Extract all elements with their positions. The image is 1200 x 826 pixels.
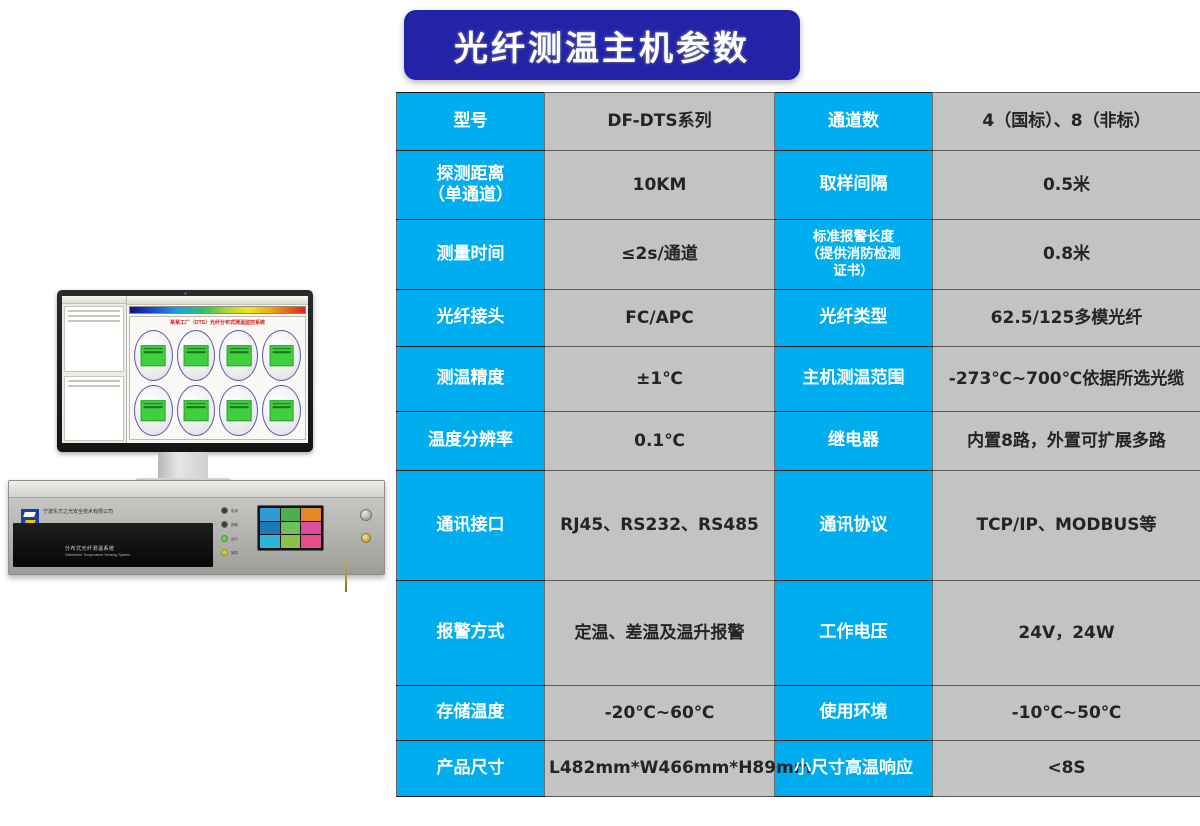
spec-value-cell: ±1℃ bbox=[545, 347, 775, 412]
connector-icon bbox=[360, 509, 372, 521]
spec-value-cell: RJ45、RS232、RS485 bbox=[545, 471, 775, 581]
spec-value-cell: 10KM bbox=[545, 151, 775, 220]
system-name-cn: 分布式光纤测温系统 bbox=[65, 545, 115, 552]
spec-value-cell: 0.5米 bbox=[933, 151, 1200, 220]
spec-key-cell: 产品尺寸 bbox=[397, 741, 545, 797]
spec-row: 通讯接口RJ45、RS232、RS485通讯协议TCP/IP、MODBUS等 bbox=[397, 471, 1200, 581]
software-sidebar bbox=[62, 296, 127, 443]
spec-value-cell: 定温、差温及温升报警 bbox=[545, 581, 775, 686]
led-label: 故障 bbox=[231, 550, 238, 555]
run-led-icon bbox=[221, 535, 228, 542]
software-screen-title: 某某工厂（DTS）光纤分布式测温监控系统 bbox=[132, 318, 303, 328]
spec-value-cell: L482mm*W466mm*H89mm bbox=[545, 741, 775, 797]
spec-key-cell: 型号 bbox=[397, 93, 545, 151]
spec-key-cell: 小尺寸高温响应 bbox=[775, 741, 933, 797]
product-photo: 某某工厂（DTS）光纤分布式测温监控系统 宁波东方之光安全技术有限公司 bbox=[0, 262, 392, 592]
spec-value-cell: 24V，24W bbox=[933, 581, 1200, 686]
system-name-en: Distributed Temperature Sensing System bbox=[65, 553, 130, 557]
spec-value-cell: -10℃~50℃ bbox=[933, 686, 1200, 741]
software-device-tree bbox=[64, 306, 124, 372]
alarm-led-icon bbox=[221, 521, 228, 528]
spec-table: 型号DF-DTS系列通道数4（国标）、8（非标）探测距离（单通道）10KM取样间… bbox=[396, 92, 1200, 797]
spec-value-cell: FC/APC bbox=[545, 290, 775, 347]
spec-value-cell: TCP/IP、MODBUS等 bbox=[933, 471, 1200, 581]
spec-row: 产品尺寸L482mm*W466mm*H89mm小尺寸高温响应<8S bbox=[397, 741, 1200, 797]
dts-host-unit: 宁波东方之光安全技术有限公司 Light of The East Securit… bbox=[8, 480, 385, 575]
spec-row: 光纤接头FC/APC光纤类型62.5/125多模光纤 bbox=[397, 290, 1200, 347]
spec-row: 测温精度±1℃主机测温范围-273℃~700℃依据所选光缆 bbox=[397, 347, 1200, 412]
monitor-screen: 某某工厂（DTS）光纤分布式测温监控系统 bbox=[62, 296, 308, 443]
tank-widget bbox=[134, 330, 173, 381]
software-menubar bbox=[62, 296, 126, 304]
spec-key-cell: 继电器 bbox=[775, 412, 933, 471]
spec-value-cell: 0.1℃ bbox=[545, 412, 775, 471]
spec-row: 存储温度-20℃~60℃使用环境-10℃~50℃ bbox=[397, 686, 1200, 741]
spec-key-cell: 通道数 bbox=[775, 93, 933, 151]
software-tank-canvas: 某某工厂（DTS）光纤分布式测温监控系统 bbox=[129, 316, 306, 440]
spec-key-cell: 使用环境 bbox=[775, 686, 933, 741]
tank-widget bbox=[262, 385, 301, 436]
software-main-panel: 某某工厂（DTS）光纤分布式测温监控系统 bbox=[127, 296, 308, 443]
spec-value-cell: <8S bbox=[933, 741, 1200, 797]
software-list-panel bbox=[64, 376, 124, 442]
spec-key-cell: 测量时间 bbox=[397, 220, 545, 290]
rack-front-panel: 分布式光纤测温系统 Distributed Temperature Sensin… bbox=[13, 523, 213, 567]
spec-key-cell: 工作电压 bbox=[775, 581, 933, 686]
spec-key-cell: 存储温度 bbox=[397, 686, 545, 741]
tank-widget bbox=[262, 330, 301, 381]
software-toolbar bbox=[127, 296, 308, 305]
spec-value-cell: -20℃~60℃ bbox=[545, 686, 775, 741]
led-label: 电源 bbox=[231, 508, 238, 513]
page-title-banner: 光纤测温主机参数 bbox=[404, 10, 800, 80]
rack-touchscreen[interactable] bbox=[257, 505, 324, 551]
tank-widget bbox=[177, 385, 216, 436]
spec-value-cell: ≤2s/通道 bbox=[545, 220, 775, 290]
spec-key-cell: 光纤类型 bbox=[775, 290, 933, 347]
spec-row: 温度分辨率0.1℃继电器内置8路，外置可扩展多路 bbox=[397, 412, 1200, 471]
temperature-colorbar bbox=[129, 306, 306, 314]
spec-key-cell: 温度分辨率 bbox=[397, 412, 545, 471]
spec-key-cell: 光纤接头 bbox=[397, 290, 545, 347]
spec-value-cell: 62.5/125多模光纤 bbox=[933, 290, 1200, 347]
spec-value-cell: -273℃~700℃依据所选光缆 bbox=[933, 347, 1200, 412]
company-name-cn: 宁波东方之光安全技术有限公司 bbox=[43, 509, 113, 515]
fault-led-icon bbox=[221, 549, 228, 556]
led-label: 报警 bbox=[231, 522, 238, 527]
spec-value-cell: DF-DTS系列 bbox=[545, 93, 775, 151]
spec-key-cell: 通讯协议 bbox=[775, 471, 933, 581]
status-led-group: 电源 报警 运行 故障 bbox=[221, 507, 238, 556]
spec-row: 测量时间≤2s/通道标准报警长度（提供消防检测证书）0.8米 bbox=[397, 220, 1200, 290]
spec-row: 型号DF-DTS系列通道数4（国标）、8（非标） bbox=[397, 93, 1200, 151]
led-label: 运行 bbox=[231, 536, 238, 541]
spec-key-cell: 取样间隔 bbox=[775, 151, 933, 220]
rack-top-bevel bbox=[9, 481, 384, 498]
spec-key-cell: 通讯接口 bbox=[397, 471, 545, 581]
spec-key-cell: 测温精度 bbox=[397, 347, 545, 412]
tank-widget bbox=[219, 385, 258, 436]
spec-value-cell: 0.8米 bbox=[933, 220, 1200, 290]
tank-widget bbox=[177, 330, 216, 381]
spec-table-body: 型号DF-DTS系列通道数4（国标）、8（非标）探测距离（单通道）10KM取样间… bbox=[397, 93, 1200, 797]
page-title: 光纤测温主机参数 bbox=[454, 21, 750, 70]
fiber-cable bbox=[345, 562, 347, 592]
spec-key-cell: 探测距离（单通道） bbox=[397, 151, 545, 220]
spec-key-cell: 标准报警长度（提供消防检测证书） bbox=[775, 220, 933, 290]
spec-key-cell: 报警方式 bbox=[397, 581, 545, 686]
spec-key-cell: 主机测温范围 bbox=[775, 347, 933, 412]
fiber-connector-icon bbox=[361, 533, 371, 543]
spec-row: 报警方式定温、差温及温升报警工作电压24V，24W bbox=[397, 581, 1200, 686]
tank-widget bbox=[219, 330, 258, 381]
tank-widget bbox=[134, 385, 173, 436]
monitor-device: 某某工厂（DTS）光纤分布式测温监控系统 bbox=[57, 290, 313, 452]
rear-connectors bbox=[360, 509, 372, 543]
spec-value-cell: 4（国标）、8（非标） bbox=[933, 93, 1200, 151]
power-led-icon bbox=[221, 507, 228, 514]
spec-row: 探测距离（单通道）10KM取样间隔0.5米 bbox=[397, 151, 1200, 220]
spec-value-cell: 内置8路，外置可扩展多路 bbox=[933, 412, 1200, 471]
